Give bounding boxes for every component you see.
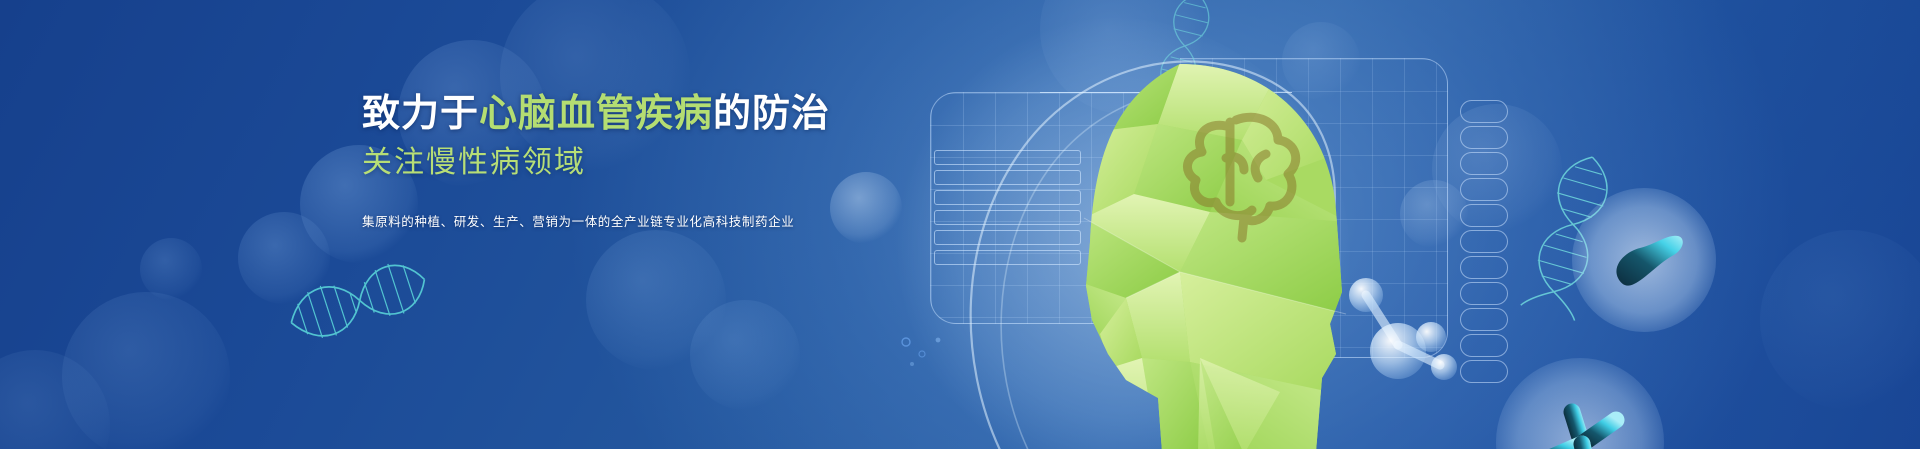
bokeh-circle	[62, 292, 230, 449]
headline-part3: 的防治	[713, 93, 830, 135]
bokeh-circle	[140, 238, 202, 300]
hud-pill	[1460, 152, 1508, 175]
hero-banner: 致力于心脑血管疾病的防治 关注慢性病领域 集原料的种植、研发、生产、营销为一体的…	[0, 0, 1920, 449]
hud-pill	[1460, 204, 1508, 227]
bokeh-circle	[586, 230, 726, 370]
hud-pill	[1460, 230, 1508, 253]
headline-part1: 致力于	[362, 93, 479, 135]
page-subtitle: 关注慢性病领域	[362, 145, 882, 181]
bacteria-cell-y-body	[1516, 378, 1642, 449]
dna-helix-left	[280, 262, 430, 342]
hero-copy: 致力于心脑血管疾病的防治 关注慢性病领域 集原料的种植、研发、生产、营销为一体的…	[362, 92, 882, 230]
bokeh-circle	[1760, 230, 1920, 410]
hud-pill	[1460, 100, 1508, 123]
page-tagline: 集原料的种植、研发、生产、营销为一体的全产业链专业化高科技制药企业	[362, 211, 882, 230]
headline-accent: 心脑血管疾病	[479, 93, 713, 135]
bokeh-circle	[690, 300, 800, 410]
particle-cluster	[898, 332, 958, 372]
page-title: 致力于心脑血管疾病的防治	[362, 92, 882, 136]
hud-pill	[1460, 126, 1508, 149]
bacteria-cell-rod-body	[1606, 222, 1690, 294]
low-poly-human-head	[1030, 62, 1360, 449]
hud-pill	[1460, 178, 1508, 201]
bokeh-circle	[0, 350, 110, 449]
